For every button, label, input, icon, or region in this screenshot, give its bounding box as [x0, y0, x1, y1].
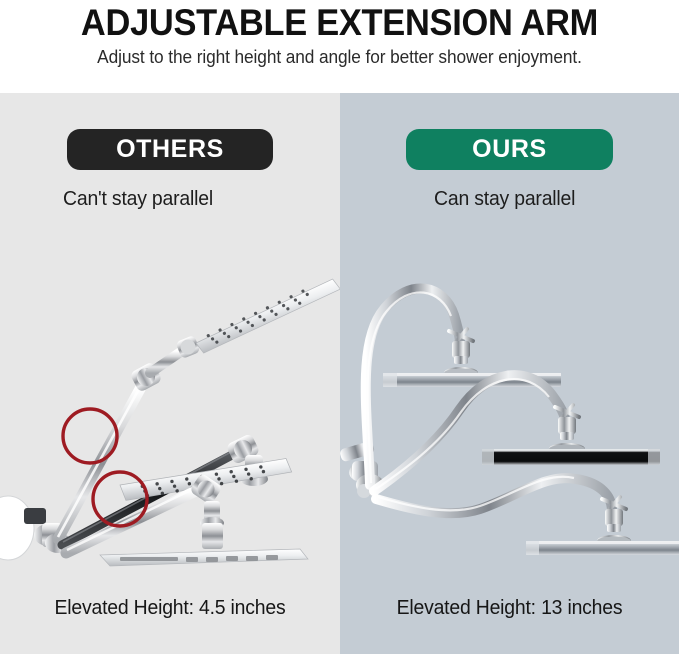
- shower-arm-upper: [58, 278, 340, 539]
- ours-product-illustration: [340, 223, 679, 623]
- swivel-joint-bottom: [597, 497, 631, 546]
- swivel-joint-middle: [549, 405, 585, 454]
- shower-arm-bottom: [376, 477, 679, 555]
- product-comparison-infographic: ADJUSTABLE EXTENSION ARM Adjust to the r…: [0, 0, 679, 654]
- header-band: ADJUSTABLE EXTENSION ARM Adjust to the r…: [0, 0, 679, 93]
- others-caption: Elevated Height: 4.5 inches: [5, 597, 335, 620]
- ours-badge: OURS: [406, 129, 613, 170]
- others-panel: OTHERS Can't stay parallel: [0, 93, 340, 654]
- others-statement: Can't stay parallel: [5, 188, 335, 211]
- ours-statement: Can stay parallel: [345, 188, 674, 211]
- shower-head-middle-dark: [482, 449, 660, 465]
- ours-caption: Elevated Height: 13 inches: [345, 597, 674, 620]
- page-title: ADJUSTABLE EXTENSION ARM: [24, 2, 655, 44]
- others-badge-label: OTHERS: [116, 135, 224, 164]
- others-product-illustration: [0, 223, 340, 623]
- swivel-joint-top: [444, 329, 478, 378]
- others-badge: OTHERS: [67, 129, 273, 170]
- shower-arm-middle: [374, 375, 660, 491]
- shower-head-tilted-upper: [191, 278, 340, 355]
- page-subtitle: Adjust to the right height and angle for…: [14, 47, 666, 68]
- ours-panel: OURS Can stay parallel: [340, 93, 679, 654]
- ours-badge-label: OURS: [472, 135, 547, 164]
- shower-head-lower: [100, 549, 308, 566]
- shower-head-bottom: [526, 541, 679, 555]
